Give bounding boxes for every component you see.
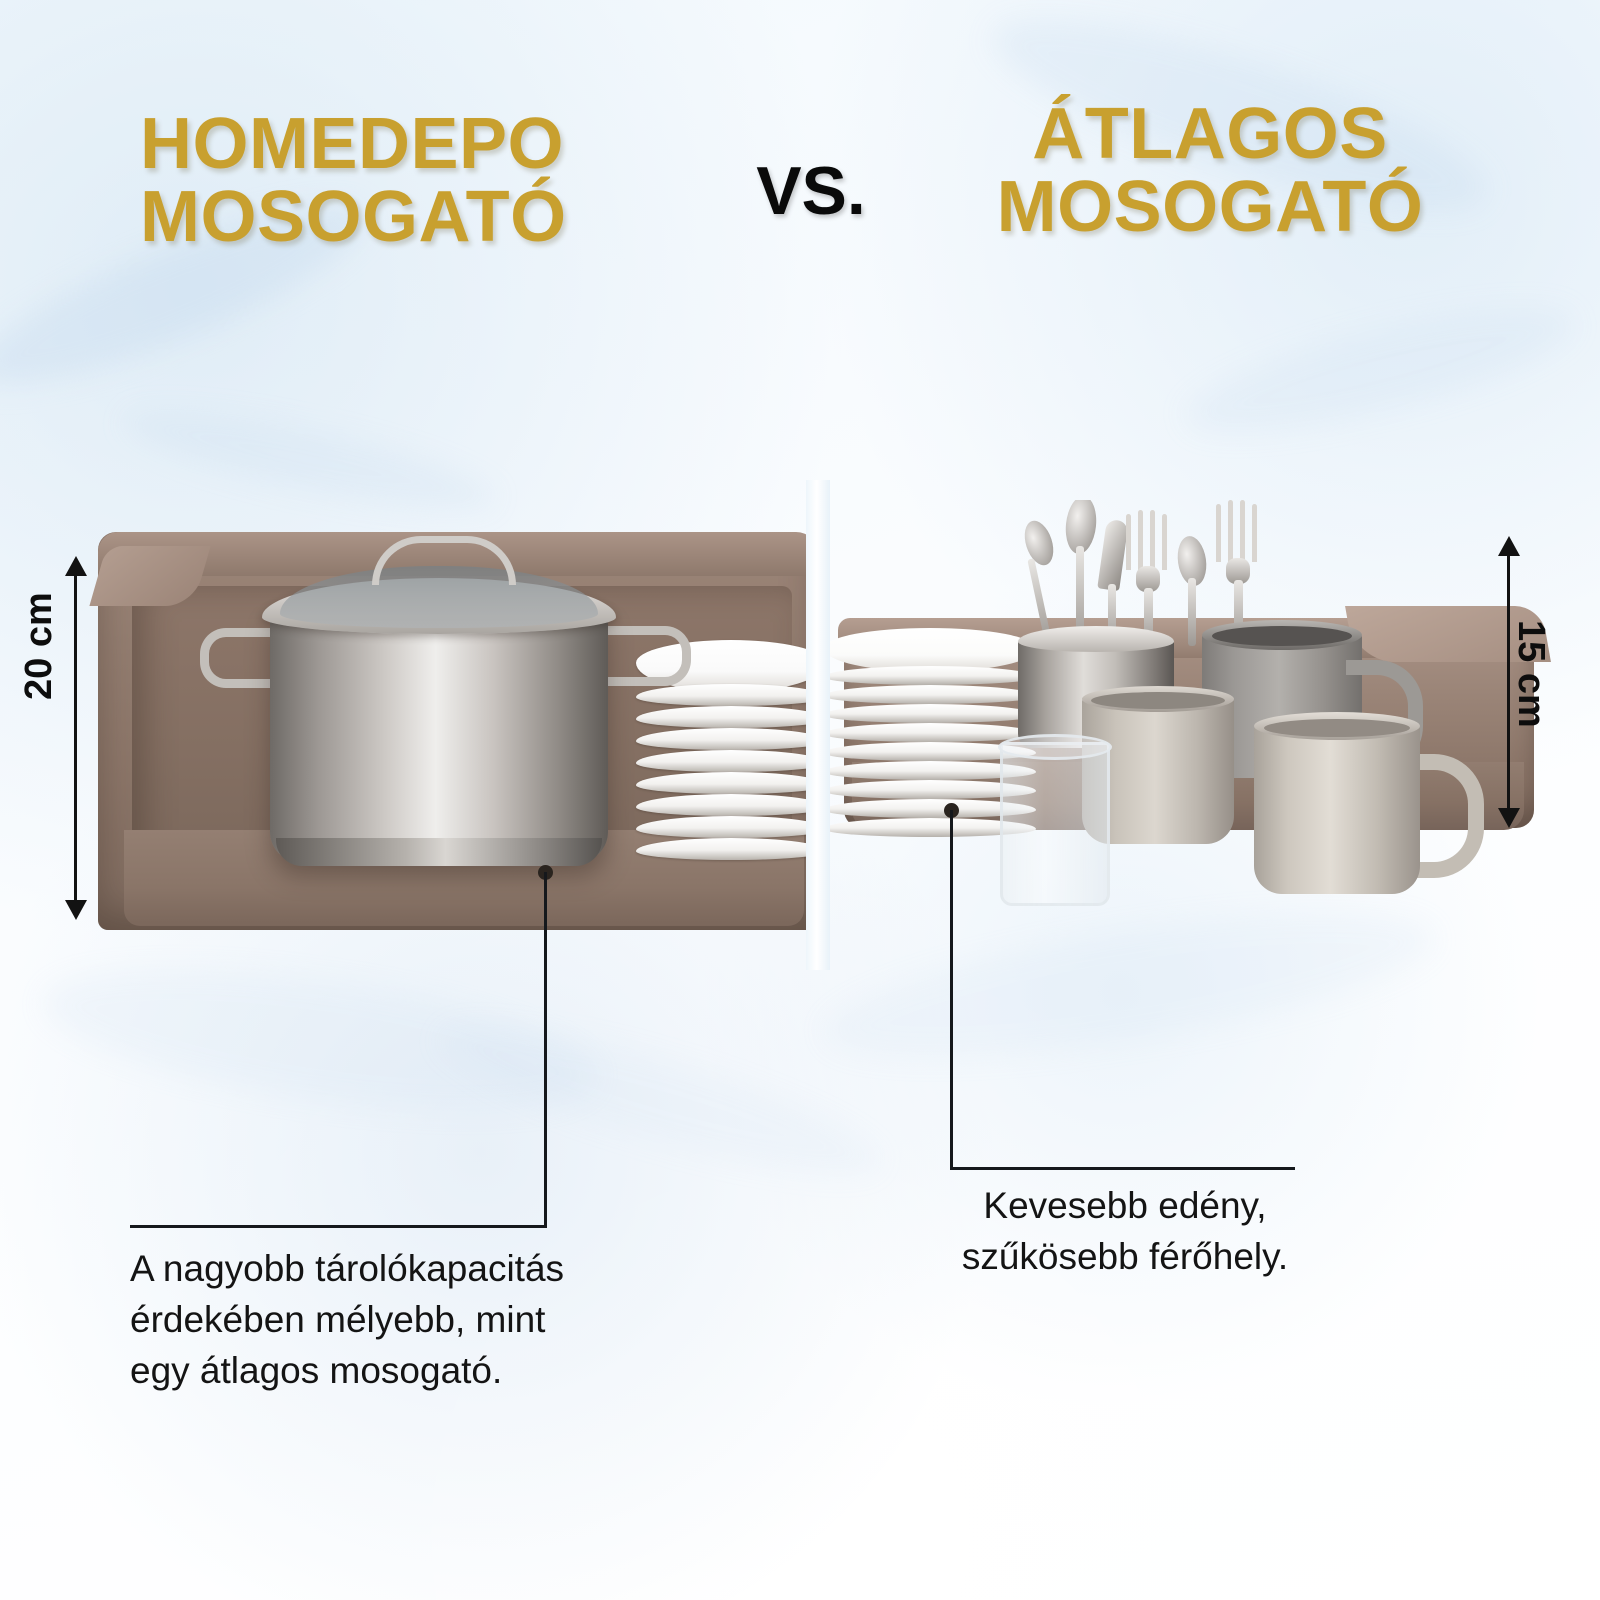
cutlery-caddy-rim xyxy=(1018,626,1174,652)
mug-greige xyxy=(1254,724,1420,894)
spoon-handle xyxy=(1188,578,1196,646)
arrow-head-down-icon xyxy=(1498,808,1520,828)
caption-left: A nagyobb tárolókapacitás érdekében mély… xyxy=(130,1243,670,1396)
panel-divider xyxy=(806,480,830,970)
dimension-label-right: 15 cm xyxy=(1509,620,1552,728)
heading-left-line1: HOMEDEPO xyxy=(140,108,760,181)
pot-handle-right xyxy=(596,626,691,686)
caption-right-line2: szűkösebb férőhely. xyxy=(905,1231,1345,1282)
heading-left-line2: MOSOGATÓ xyxy=(140,181,760,254)
knife-icon xyxy=(1097,519,1129,591)
dimension-line xyxy=(74,572,77,906)
comparison-photo-band xyxy=(0,500,1600,950)
plate xyxy=(636,706,806,728)
spoon-icon xyxy=(1020,517,1059,569)
plate xyxy=(636,772,806,794)
heading-left: HOMEDEPO MOSOGATÓ xyxy=(140,108,760,255)
caption-left-line1: A nagyobb tárolókapacitás xyxy=(130,1243,670,1294)
versus-label: VS. xyxy=(716,152,906,230)
photo-half-left xyxy=(0,500,806,950)
plate xyxy=(830,685,1036,704)
mug-interior xyxy=(1091,692,1225,709)
drinking-glass xyxy=(1000,742,1110,906)
leader-line-vertical xyxy=(950,810,953,1170)
drinking-glass-rim xyxy=(998,734,1112,760)
marble-vein xyxy=(1176,283,1583,457)
plate xyxy=(636,816,806,838)
caption-left-line3: egy átlagos mosogató. xyxy=(130,1345,670,1396)
plate xyxy=(636,838,806,860)
plate xyxy=(636,750,806,772)
arrow-head-down-icon xyxy=(65,900,87,920)
dimension-label-left: 20 cm xyxy=(18,592,61,700)
leader-line-horizontal xyxy=(130,1225,547,1228)
caption-left-line2: érdekében mélyebb, mint xyxy=(130,1294,670,1345)
stock-pot-body xyxy=(270,610,608,862)
heading-right-line1: ÁTLAGOS xyxy=(930,98,1490,171)
leader-line-vertical xyxy=(544,872,547,1228)
plate xyxy=(636,794,806,816)
plate xyxy=(830,666,1036,685)
stock-pot-base xyxy=(276,838,602,866)
plate xyxy=(830,723,1036,742)
plate xyxy=(636,728,806,750)
caption-right-line1: Kevesebb edény, xyxy=(905,1180,1345,1231)
infographic-canvas: HOMEDEPO MOSOGATÓ VS. ÁTLAGOS MOSOGATÓ xyxy=(0,0,1600,1600)
mug-interior xyxy=(1212,626,1352,646)
heading-right-line2: MOSOGATÓ xyxy=(930,171,1490,244)
photo-half-right xyxy=(830,500,1600,950)
plate xyxy=(830,704,1036,723)
plate xyxy=(636,684,806,706)
caption-right: Kevesebb edény, szűkösebb férőhely. xyxy=(905,1180,1345,1282)
leader-line-horizontal xyxy=(950,1167,1295,1170)
heading-right: ÁTLAGOS MOSOGATÓ xyxy=(930,98,1490,245)
mug-interior xyxy=(1264,719,1410,737)
